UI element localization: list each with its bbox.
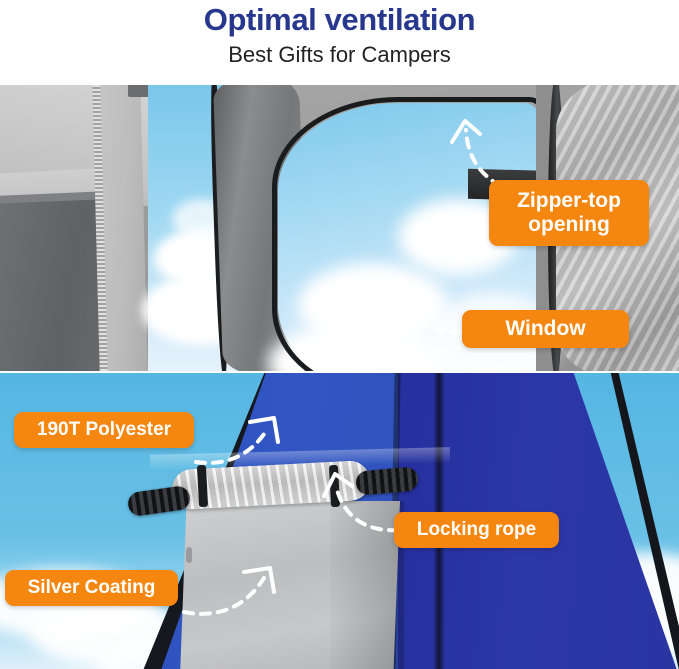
callout-badge-polyester[interactable]: 190T Polyester <box>14 412 194 448</box>
callout-badge-locking-rope[interactable]: Locking rope <box>394 512 559 548</box>
silver-door-shadow <box>330 501 404 669</box>
header: Optimal ventilation Best Gifts for Campe… <box>0 0 679 85</box>
tent-zipper-clip <box>128 85 150 97</box>
callout-badge-silver-coating[interactable]: Silver Coating <box>5 570 178 606</box>
callout-badge-zipper-top[interactable]: Zipper-top opening <box>489 180 649 246</box>
infographic-page: Optimal ventilation Best Gifts for Campe… <box>0 0 679 669</box>
door-zipper-pull <box>186 547 192 563</box>
page-subtitle: Best Gifts for Campers <box>228 40 451 70</box>
page-title: Optimal ventilation <box>204 1 475 39</box>
callout-badge-window[interactable]: Window <box>462 310 629 348</box>
panel-divider <box>0 371 679 373</box>
